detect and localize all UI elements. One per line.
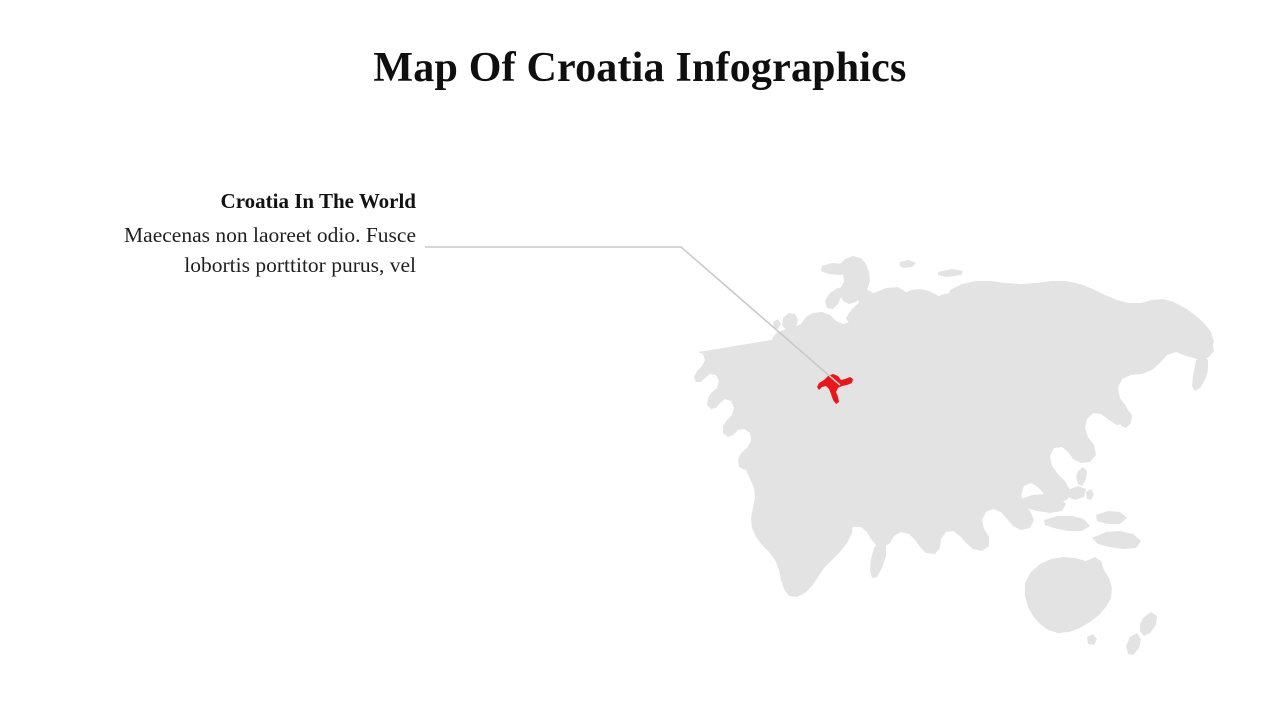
landmasses	[694, 260, 1214, 554]
land-iceland	[821, 263, 852, 275]
land-siberia	[946, 281, 1214, 369]
land-anatolia	[846, 387, 906, 406]
callout-leader-line	[425, 247, 840, 385]
land-new-guinea	[1092, 531, 1141, 549]
land-madagascar	[870, 540, 886, 578]
land-europe	[770, 285, 954, 380]
land-africa	[745, 411, 870, 597]
land-tasmania	[1087, 634, 1097, 645]
land-arabia	[876, 425, 919, 469]
callout-heading: Croatia In The World	[86, 188, 416, 215]
land-eurasia	[694, 287, 1214, 554]
page-title: Map Of Croatia Infographics	[0, 42, 1280, 94]
land-japan	[1096, 389, 1132, 428]
land-central-asia	[904, 353, 1012, 398]
land-new-zealand	[1126, 612, 1157, 655]
croatia-shape	[817, 374, 853, 404]
callout-text-block: Croatia In The World Maecenas non laoree…	[86, 188, 416, 280]
slide-canvas: Map Of Croatia Infographics	[0, 0, 1280, 720]
land-philippines	[1076, 467, 1094, 500]
land-india	[969, 414, 1014, 475]
land-southeast-asia	[1017, 428, 1051, 478]
callout-body-text: Maecenas non laoreet odio. Fusce loborti…	[86, 221, 416, 280]
land-balkans	[804, 365, 844, 390]
land-scandinavia	[838, 256, 870, 304]
land-arctic-isles	[899, 260, 963, 277]
land-sri-lanka	[989, 481, 997, 492]
land-indonesia	[999, 486, 1127, 531]
continent-shapes	[745, 256, 1214, 655]
land-australia	[1025, 557, 1112, 633]
leader-line-group	[425, 247, 840, 385]
land-caspian-area	[908, 400, 950, 422]
land-kamchatka	[1192, 356, 1208, 391]
land-iberia	[762, 376, 790, 397]
croatia-highlight	[817, 374, 853, 404]
land-east-asia	[1011, 373, 1095, 428]
world-map	[0, 0, 1280, 720]
land-british-isles	[773, 313, 798, 331]
